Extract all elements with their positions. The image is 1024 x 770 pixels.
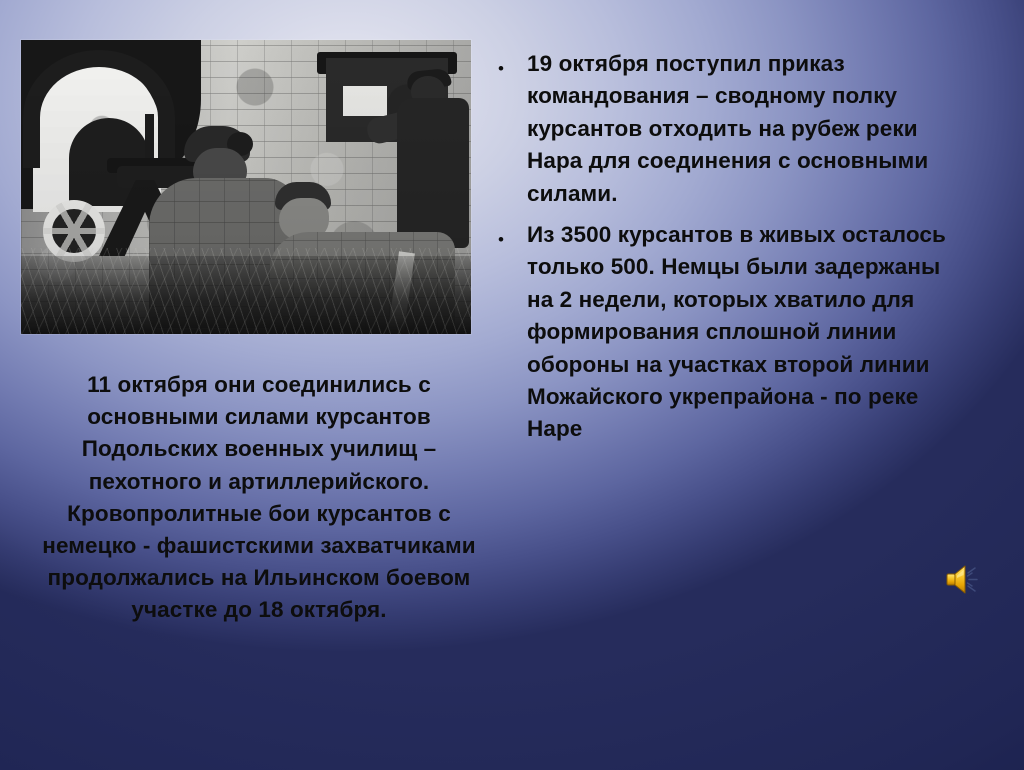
slide-canvas: 11 октября они соединились с основными с…	[0, 0, 1024, 770]
bullet-item-2: • Из 3500 курсантов в живых осталось тол…	[490, 219, 960, 446]
bullet-marker-icon: •	[490, 48, 527, 77]
historical-photo	[21, 40, 471, 334]
bullet-item-1-text: 19 октября поступил приказ командования …	[527, 48, 960, 210]
bullet-item-1: • 19 октября поступил приказ командовани…	[490, 48, 960, 210]
bullet-item-2-text: Из 3500 курсантов в живых осталось тольк…	[527, 219, 960, 446]
bullet-list: • 19 октября поступил приказ командовани…	[490, 48, 960, 455]
bullet-marker-icon: •	[490, 219, 527, 248]
photo-caption-text: 11 октября они соединились с основными с…	[28, 369, 490, 627]
photo-tone-overlay	[21, 40, 471, 334]
speaker-icon[interactable]	[944, 560, 984, 598]
